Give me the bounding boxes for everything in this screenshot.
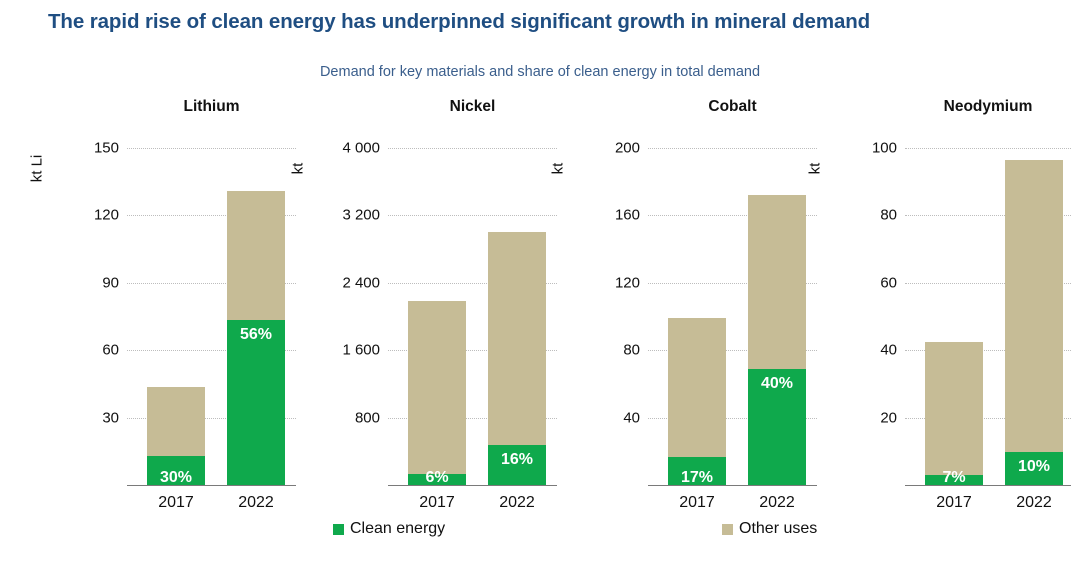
page-title: The rapid rise of clean energy has under… <box>48 10 1048 34</box>
legend-label-other-uses: Other uses <box>739 520 817 538</box>
bar-segment-clean-energy <box>668 457 726 485</box>
bar-cobalt-2017[interactable] <box>668 318 726 485</box>
legend-swatch-other-uses <box>722 524 733 535</box>
x-axis-line <box>905 485 1071 486</box>
x-tick-label-2017: 2017 <box>392 494 482 512</box>
bar-segment-other-uses <box>925 342 983 475</box>
bar-segment-clean-energy <box>1005 452 1063 485</box>
y-tick-label: 60 <box>49 342 119 359</box>
panel-neodymium: Neodymium20406080100kt7%201710%2022 <box>782 98 1080 513</box>
legend-label-clean-energy: Clean energy <box>350 520 445 538</box>
chart-root: The rapid rise of clean energy has under… <box>0 0 1080 585</box>
bar-neodymium-2022[interactable] <box>1005 160 1063 485</box>
y-tick-label: 60 <box>827 274 897 291</box>
y-axis-unit-label: kt <box>290 149 307 189</box>
legend-item-other-uses[interactable]: Other uses <box>722 520 817 538</box>
y-axis-unit-label: kt Li <box>29 149 46 189</box>
y-tick-label: 160 <box>570 207 640 224</box>
bar-segment-clean-energy <box>925 475 983 485</box>
y-tick-label: 200 <box>570 140 640 157</box>
y-tick-label: 80 <box>570 342 640 359</box>
y-tick-label: 40 <box>570 409 640 426</box>
gridline <box>905 148 1071 149</box>
y-tick-label: 800 <box>310 409 380 426</box>
y-tick-label: 40 <box>827 342 897 359</box>
panel-cobalt: Cobalt4080120160200kt17%201740%2022 <box>522 98 822 513</box>
x-tick-label-2022: 2022 <box>989 494 1079 512</box>
panel-container: Lithium306090120150kt Li30%201756%2022Ni… <box>0 98 1080 513</box>
x-tick-label-2017: 2017 <box>652 494 742 512</box>
bar-segment-other-uses <box>147 387 205 456</box>
panel-title-neodymium: Neodymium <box>893 98 1080 116</box>
x-tick-label-2017: 2017 <box>909 494 999 512</box>
panel-nickel: Nickel8001 6002 4003 2004 000kt6%201716%… <box>262 98 562 513</box>
y-tick-label: 120 <box>570 274 640 291</box>
bar-segment-other-uses <box>668 318 726 457</box>
chart-subtitle: Demand for key materials and share of cl… <box>0 64 1080 80</box>
y-tick-label: 20 <box>827 409 897 426</box>
chart-legend: Clean energy Other uses <box>0 520 1080 552</box>
x-tick-label-2017: 2017 <box>131 494 221 512</box>
y-tick-label: 120 <box>49 207 119 224</box>
legend-swatch-clean-energy <box>333 524 344 535</box>
y-tick-label: 1 600 <box>310 342 380 359</box>
bar-segment-other-uses <box>1005 160 1063 453</box>
legend-item-clean-energy[interactable]: Clean energy <box>333 520 445 538</box>
y-axis-unit-label: kt <box>550 149 567 189</box>
y-tick-label: 90 <box>49 274 119 291</box>
y-axis-unit-label: kt <box>807 149 824 189</box>
bar-nickel-2017[interactable] <box>408 301 466 485</box>
bar-lithium-2017[interactable] <box>147 387 205 485</box>
panel-lithium: Lithium306090120150kt Li30%201756%2022 <box>0 98 300 513</box>
y-tick-label: 150 <box>49 140 119 157</box>
bar-segment-other-uses <box>408 301 466 474</box>
y-tick-label: 30 <box>49 409 119 426</box>
y-tick-label: 4 000 <box>310 140 380 157</box>
y-tick-label: 3 200 <box>310 207 380 224</box>
y-tick-label: 2 400 <box>310 274 380 291</box>
bar-segment-clean-energy <box>147 456 205 485</box>
bar-neodymium-2017[interactable] <box>925 342 983 485</box>
bar-segment-clean-energy <box>408 474 466 485</box>
y-tick-label: 100 <box>827 140 897 157</box>
y-tick-label: 80 <box>827 207 897 224</box>
